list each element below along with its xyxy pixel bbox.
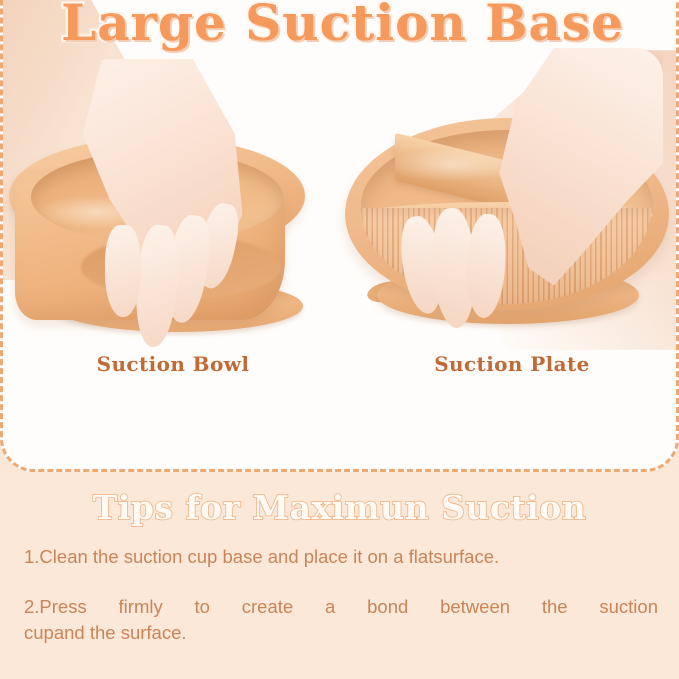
tip-item-1: 1.Clean the suction cup base and place i…	[24, 544, 658, 570]
suction-bowl-photo	[9, 75, 339, 350]
page-title: Large Suction Base	[3, 0, 676, 52]
tip-item-2: 2.Press firmly to create a bond between …	[24, 594, 658, 645]
product-labels: Suction Bowl Suction Plate	[3, 352, 676, 386]
plate-highlight	[387, 148, 517, 182]
dashed-photo-card: Large Suction Base Large Suction Base Su…	[0, 0, 679, 472]
label-suction-bowl: Suction Bowl	[3, 352, 343, 376]
tips-heading: Tips for Maximun Suction	[0, 488, 679, 527]
product-infographic: Large Suction Base Large Suction Base Su…	[0, 0, 679, 679]
bowl-finger-1	[105, 225, 141, 317]
suction-plate-photo	[341, 90, 676, 352]
tip-item-2-line-1: 2.Press firmly to create a bond between …	[24, 594, 658, 620]
label-suction-plate: Suction Plate	[342, 352, 676, 376]
tip-item-2-line-2: cupand the surface.	[24, 620, 658, 646]
tips-section: Tips for Maximun Suction 1.Clean the suc…	[0, 472, 679, 679]
